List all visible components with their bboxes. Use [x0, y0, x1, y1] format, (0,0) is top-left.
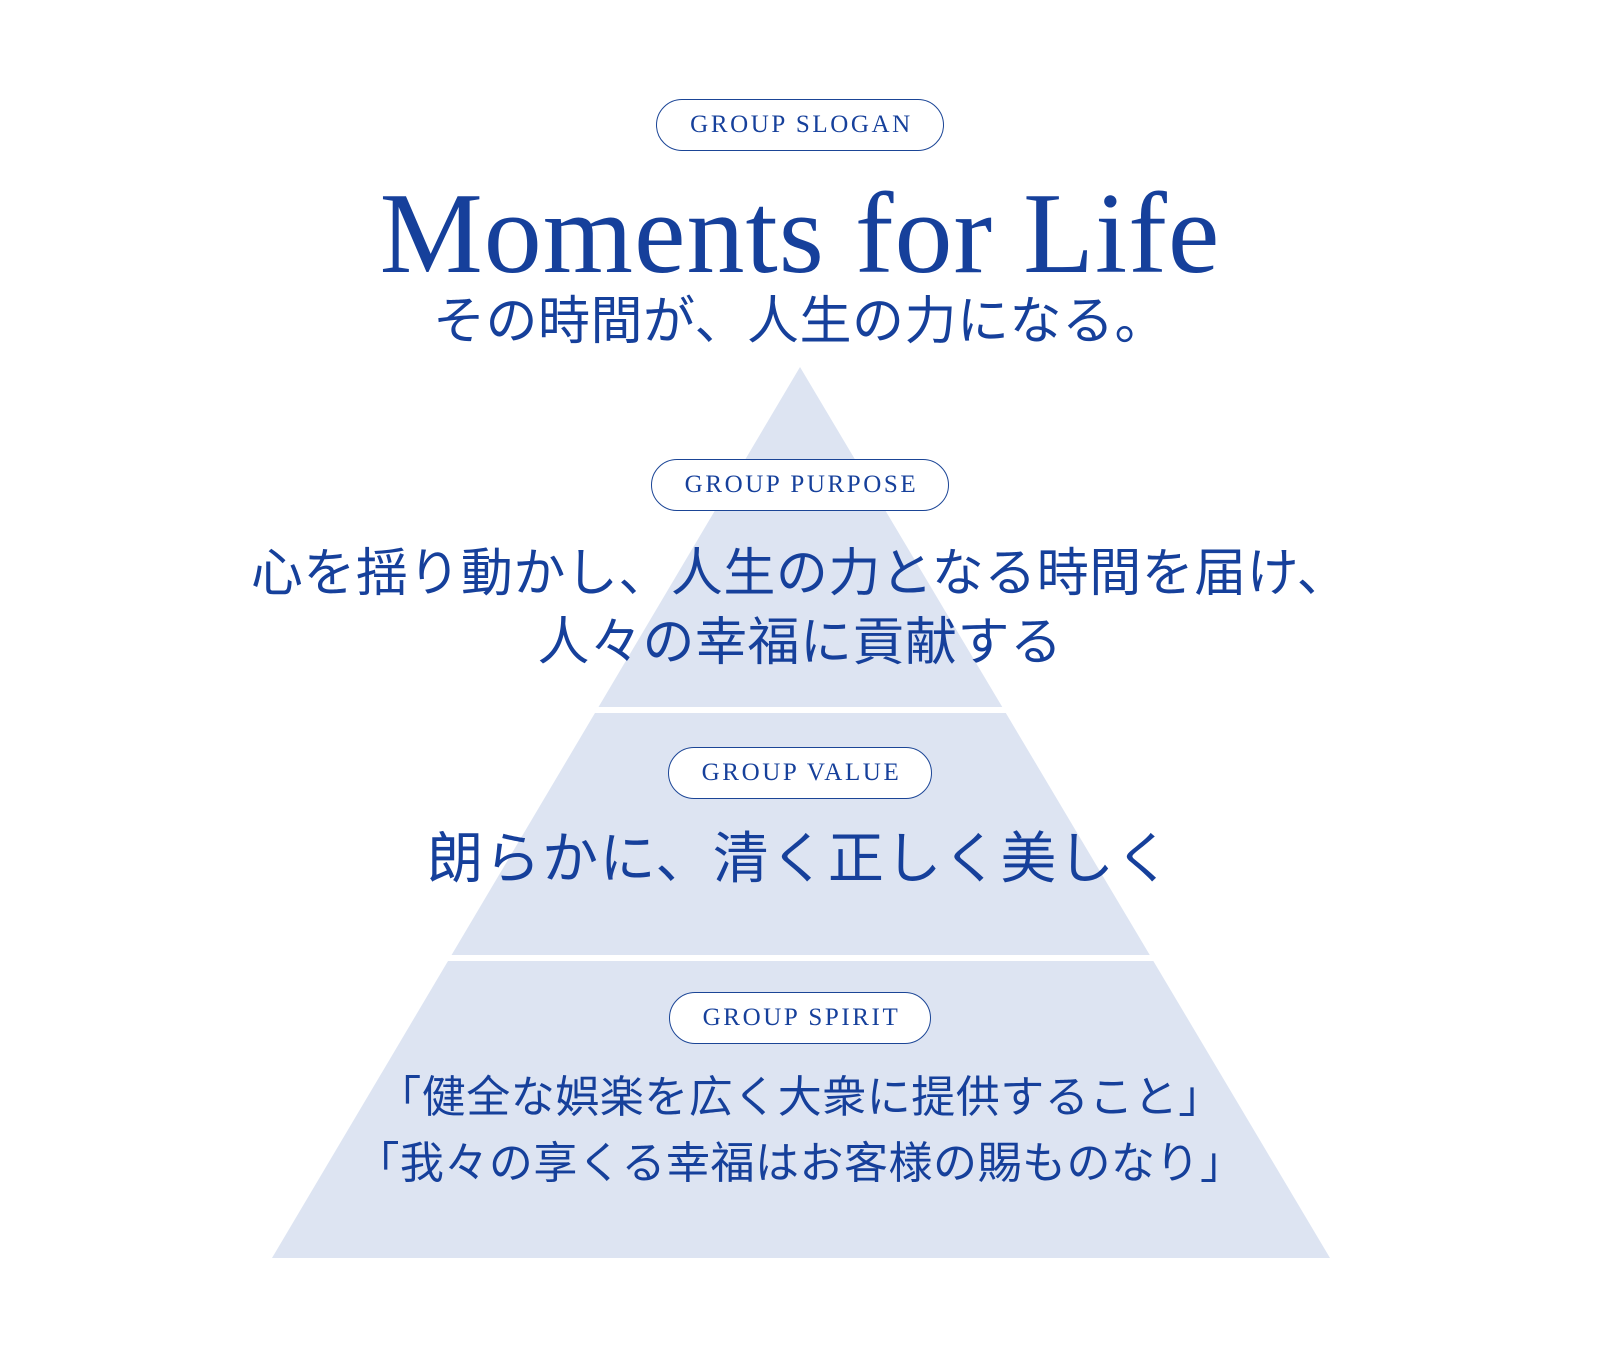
poster-content: GROUP SLOGAN Moments for Life その時間が、人生の力… — [0, 0, 1600, 1358]
badge-group-slogan: GROUP SLOGAN — [656, 99, 944, 151]
spirit-copy-line-1: 「健全な娯楽を広く大衆に提供すること」 — [0, 1065, 1600, 1131]
section-group-purpose: GROUP PURPOSE — [0, 459, 1600, 511]
value-copy-block: 朗らかに、清く正しく美しく — [0, 824, 1600, 897]
purpose-copy-block: 心を揺り動かし、人生の力となる時間を届け、 人々の幸福に貢献する — [0, 541, 1600, 678]
purpose-copy-line-2: 人々の幸福に貢献する — [0, 610, 1600, 679]
slogan-title-en-row: Moments for Life — [0, 176, 1600, 292]
slogan-title-jp-row: その時間が、人生の力になる。 — [0, 290, 1600, 355]
value-copy: 朗らかに、清く正しく美しく — [0, 824, 1600, 897]
page-subtitle: その時間が、人生の力になる。 — [433, 294, 1167, 351]
section-group-value: GROUP VALUE — [0, 747, 1600, 799]
spirit-copy-line-2: 「我々の享くる幸福はお客様の賜ものなり」 — [0, 1131, 1600, 1197]
brand-philosophy-poster: GROUP SLOGAN Moments for Life その時間が、人生の力… — [0, 0, 1600, 1358]
section-group-slogan: GROUP SLOGAN — [0, 99, 1600, 151]
badge-group-purpose: GROUP PURPOSE — [651, 459, 950, 511]
purpose-copy-line-1: 心を揺り動かし、人生の力となる時間を届け、 — [0, 541, 1600, 610]
spirit-copy-block: 「健全な娯楽を広く大衆に提供すること」 「我々の享くる幸福はお客様の賜ものなり」 — [0, 1065, 1600, 1197]
purpose-copy: 心を揺り動かし、人生の力となる時間を届け、 人々の幸福に貢献する — [0, 541, 1600, 678]
page-title: Moments for Life — [380, 170, 1221, 298]
badge-group-spirit: GROUP SPIRIT — [669, 992, 932, 1044]
value-copy-line-1: 朗らかに、清く正しく美しく — [0, 824, 1600, 897]
section-group-spirit: GROUP SPIRIT — [0, 992, 1600, 1044]
spirit-copy: 「健全な娯楽を広く大衆に提供すること」 「我々の享くる幸福はお客様の賜ものなり」 — [0, 1065, 1600, 1197]
badge-group-value: GROUP VALUE — [668, 747, 933, 799]
